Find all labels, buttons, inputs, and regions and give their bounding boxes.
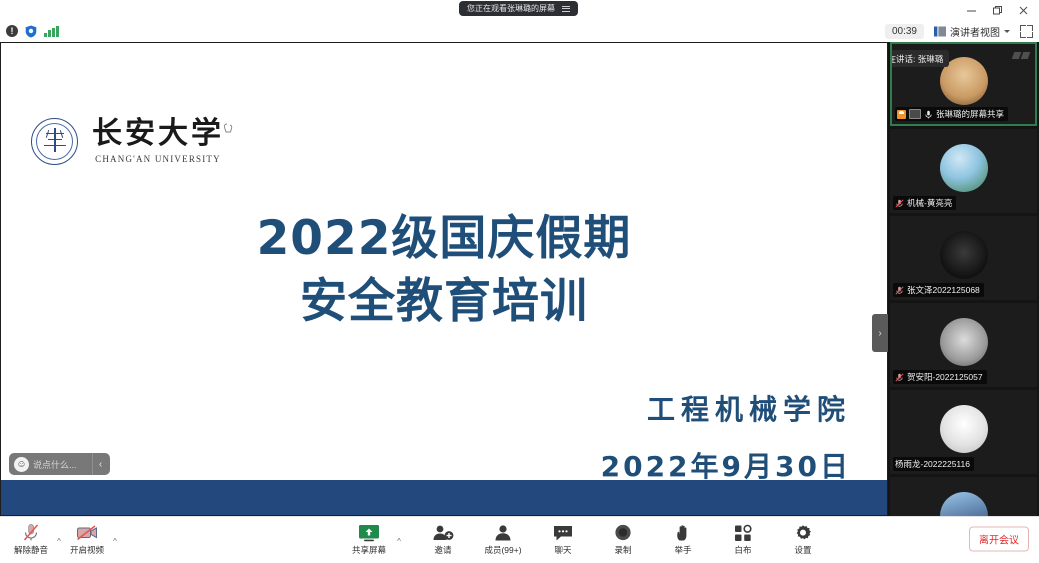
- university-emblem-icon: [31, 118, 78, 165]
- screen-share-icon: [909, 109, 921, 119]
- share-screen-label: 共享屏幕: [352, 544, 386, 556]
- settings-label: 设置: [794, 544, 811, 556]
- view-mode-label: 演讲者视图: [950, 24, 1000, 39]
- close-button[interactable]: [1011, 1, 1035, 19]
- participants-button[interactable]: 成员(99+): [482, 522, 524, 556]
- tile-name-badge: 杨雨龙-2022225116: [893, 457, 974, 471]
- microphone-muted-icon: [895, 199, 904, 208]
- tile-name-label: 张琳璐的屏幕共享: [936, 108, 1004, 120]
- panel-collapse-handle[interactable]: ›: [872, 314, 888, 352]
- unmute-label: 解除静音: [14, 544, 48, 556]
- restore-button[interactable]: [985, 1, 1009, 19]
- university-name-cn: 长安大学: [92, 119, 224, 149]
- start-video-button[interactable]: 开启视频: [66, 522, 108, 556]
- raise-hand-icon: [672, 522, 694, 542]
- unmute-button[interactable]: 解除静音: [10, 522, 52, 556]
- shared-screen-stage[interactable]: 长安大学 CHANG'AN UNIVERSITY 2022级国庆假期 安全教育培…: [0, 42, 888, 516]
- slide-title: 2022级国庆假期 安全教育培训: [1, 208, 887, 333]
- participants-icon: [492, 522, 514, 542]
- tile-name-badge: 张琳璐的屏幕共享: [895, 107, 1008, 121]
- signal-bars-icon[interactable]: [44, 26, 59, 37]
- pointer-icon: [223, 123, 235, 137]
- share-screen-button[interactable]: 共享屏幕: [348, 522, 390, 556]
- microphone-muted-icon: [895, 286, 904, 295]
- avatar: [940, 144, 988, 192]
- video-options-caret[interactable]: ^: [110, 520, 120, 563]
- fullscreen-icon[interactable]: [1020, 25, 1033, 38]
- avatar: [940, 231, 988, 279]
- video-tile[interactable]: 机械-黄亮亮: [890, 129, 1037, 213]
- meeting-timer: 00:39: [885, 24, 924, 39]
- slide-title-line2: 安全教育培训: [1, 271, 887, 334]
- chat-input[interactable]: 说点什么...: [33, 458, 88, 471]
- slide-department: 工程机械学院: [647, 388, 851, 428]
- share-screen-icon: [358, 522, 380, 542]
- record-button[interactable]: 录制: [602, 522, 644, 556]
- chat-icon: [552, 522, 574, 542]
- status-icons: !: [6, 20, 59, 42]
- avatar: [940, 405, 988, 453]
- slide-title-line1: 2022级国庆假期: [1, 208, 887, 271]
- whiteboard-icon: [732, 522, 754, 542]
- toolbar-actions: 共享屏幕 ^ 邀请: [348, 517, 824, 560]
- raise-hand-label: 举手: [674, 544, 691, 556]
- screen-share-notice: 您正在观看张琳璐的屏幕: [459, 1, 578, 16]
- microphone-muted-icon: [895, 373, 904, 382]
- invite-icon: [432, 522, 454, 542]
- university-wordmark: 长安大学 CHANG'AN UNIVERSITY: [92, 119, 224, 164]
- university-name-en: CHANG'AN UNIVERSITY: [95, 154, 221, 164]
- minimize-button[interactable]: [959, 1, 983, 19]
- sharing-waves-icon: [1013, 52, 1029, 59]
- audio-options-caret[interactable]: ^: [54, 520, 64, 563]
- tile-name-label: 杨雨龙-2022225116: [895, 458, 970, 470]
- meeting-status-bar: ! 00:39 演讲者视图: [0, 20, 1039, 43]
- whiteboard-button[interactable]: 白布: [722, 522, 764, 556]
- tile-name-label: 张文泽2022125068: [907, 284, 980, 296]
- chat-collapse-button[interactable]: ‹: [92, 453, 108, 475]
- invite-label: 邀请: [434, 544, 451, 556]
- tile-name-badge: 贺安阳-2022125057: [893, 370, 987, 384]
- camera-muted-icon: [76, 522, 98, 542]
- video-tile-active-speaker[interactable]: 正在讲话: 张琳璐 张琳璐的屏幕共享: [890, 42, 1037, 126]
- video-tile[interactable]: 贺安阳-2022125057: [890, 303, 1037, 387]
- start-video-label: 开启视频: [70, 544, 104, 556]
- window-controls: [959, 0, 1035, 20]
- share-options-caret[interactable]: ^: [394, 520, 404, 563]
- chevron-down-icon[interactable]: [1004, 30, 1010, 33]
- meeting-toolbar: 解除静音 ^ 开启视频 ^: [0, 516, 1039, 560]
- zoom-meeting-window: 您正在观看张琳璐的屏幕 !: [0, 0, 1039, 559]
- participant-video-strip[interactable]: 正在讲话: 张琳璐 张琳璐的屏幕共享 机械-黄亮亮: [888, 42, 1039, 516]
- view-mode-selector[interactable]: 演讲者视图: [934, 24, 1010, 39]
- host-icon: [897, 110, 906, 119]
- tile-name-badge: 机械-黄亮亮: [893, 196, 956, 210]
- hamburger-icon[interactable]: [562, 6, 570, 12]
- speaking-tooltip: 正在讲话: 张琳璐: [890, 50, 949, 67]
- slide-footer-band: [1, 480, 887, 515]
- tile-name-label: 贺安阳-2022125057: [907, 371, 983, 383]
- slide-date: 2022年9月30日: [601, 445, 851, 485]
- info-icon[interactable]: !: [6, 25, 18, 37]
- chat-button[interactable]: 聊天: [542, 522, 584, 556]
- video-tile[interactable]: 张文泽2022125068: [890, 216, 1037, 300]
- settings-icon: [792, 522, 814, 542]
- screen-share-notice-text: 您正在观看张琳璐的屏幕: [467, 5, 555, 13]
- emoji-icon[interactable]: ☺: [14, 457, 29, 472]
- toolbar-audio-video: 解除静音 ^ 开启视频 ^: [10, 517, 120, 560]
- avatar: [940, 318, 988, 366]
- whiteboard-label: 白布: [734, 544, 751, 556]
- invite-button[interactable]: 邀请: [422, 522, 464, 556]
- speaking-tooltip-text: 正在讲话: 张琳璐: [890, 53, 943, 65]
- leave-meeting-button[interactable]: 离开会议: [969, 526, 1029, 551]
- record-icon: [612, 522, 634, 542]
- university-logo: 长安大学 CHANG'AN UNIVERSITY: [31, 118, 224, 165]
- raise-hand-button[interactable]: 举手: [662, 522, 704, 556]
- microphone-icon: [924, 110, 933, 119]
- tile-name-badge: 张文泽2022125068: [893, 283, 984, 297]
- microphone-muted-icon: [22, 522, 40, 542]
- settings-button[interactable]: 设置: [782, 522, 824, 556]
- status-controls: 00:39 演讲者视图: [885, 20, 1033, 42]
- video-tile[interactable]: 杨雨龙-2022225116: [890, 390, 1037, 474]
- participants-label: 成员(99+): [484, 544, 521, 556]
- shield-icon[interactable]: [25, 25, 37, 38]
- title-bar: 您正在观看张琳璐的屏幕: [0, 0, 1039, 20]
- speaker-view-icon: [934, 26, 946, 37]
- presentation-slide: 长安大学 CHANG'AN UNIVERSITY 2022级国庆假期 安全教育培…: [1, 43, 887, 515]
- tile-name-label: 机械-黄亮亮: [907, 197, 952, 209]
- chat-label: 聊天: [554, 544, 571, 556]
- record-label: 录制: [614, 544, 631, 556]
- video-tile[interactable]: ⌄: [890, 477, 1037, 516]
- floating-chat-bar[interactable]: ☺ 说点什么... ‹: [9, 453, 110, 475]
